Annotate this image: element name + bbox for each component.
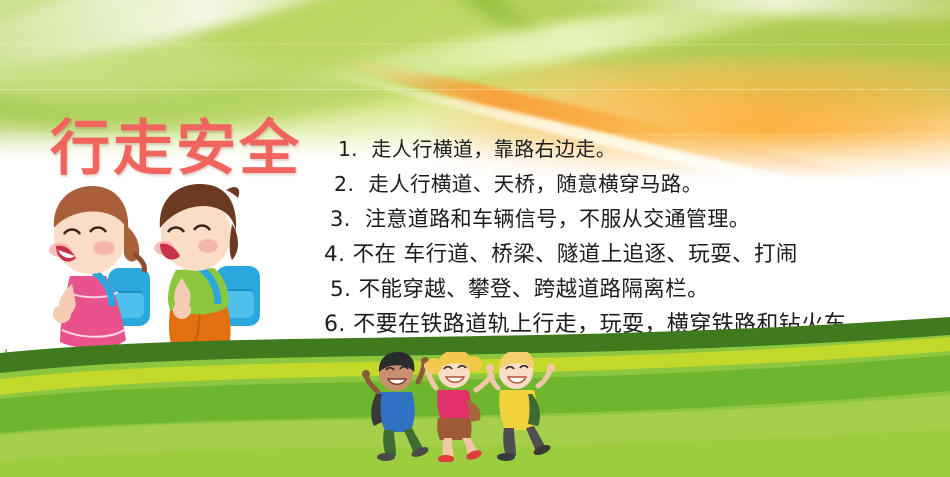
list-item-text: 不在 车行道、桥梁、隧道上追逐、玩耍、打闹 (353, 242, 798, 267)
list-item-number: 3. (330, 207, 351, 231)
list-item: 4. 不在 车行道、桥梁、隧道上追逐、玩耍、打闹 (320, 237, 940, 272)
page-title: 行走安全 (50, 100, 302, 187)
list-item-number: 2. (334, 172, 354, 196)
pink-shirt (437, 390, 471, 422)
yellow-kid-backpack (528, 394, 540, 426)
jumping-children-illustration (362, 352, 562, 462)
pigtail-right (466, 356, 482, 372)
blue-shirt (379, 392, 415, 432)
list-item: 2. 走人行横道、天桥，随意横穿马路。 (320, 167, 940, 202)
list-item-number: 4. (324, 242, 345, 267)
list-item-text: 走人行横道，靠路右边走。 (371, 137, 616, 161)
list-item: 3. 注意道路和车辆信号，不服从交通管理。 (320, 202, 940, 237)
list-item-text: 走人行横道、天桥，随意横穿马路。 (368, 172, 702, 196)
pigtail-left (426, 358, 442, 374)
jumping-girl-pink (424, 352, 495, 462)
list-item-text: 注意道路和车辆信号，不服从交通管理。 (365, 207, 750, 231)
jumping-boy-yellow (486, 352, 555, 461)
girl-skirt (437, 418, 471, 440)
list-item-number: 1. (338, 137, 358, 161)
poster-canvas: 行走安全 1. 走人行横道，靠路右边走。 2. 走人行横道、天桥，随意横穿马路。… (0, 0, 950, 477)
list-item: 1. 走人行横道，靠路右边走。 (320, 132, 940, 167)
jumping-boy-blue (362, 352, 430, 461)
blue-kid-backpack (371, 394, 382, 426)
